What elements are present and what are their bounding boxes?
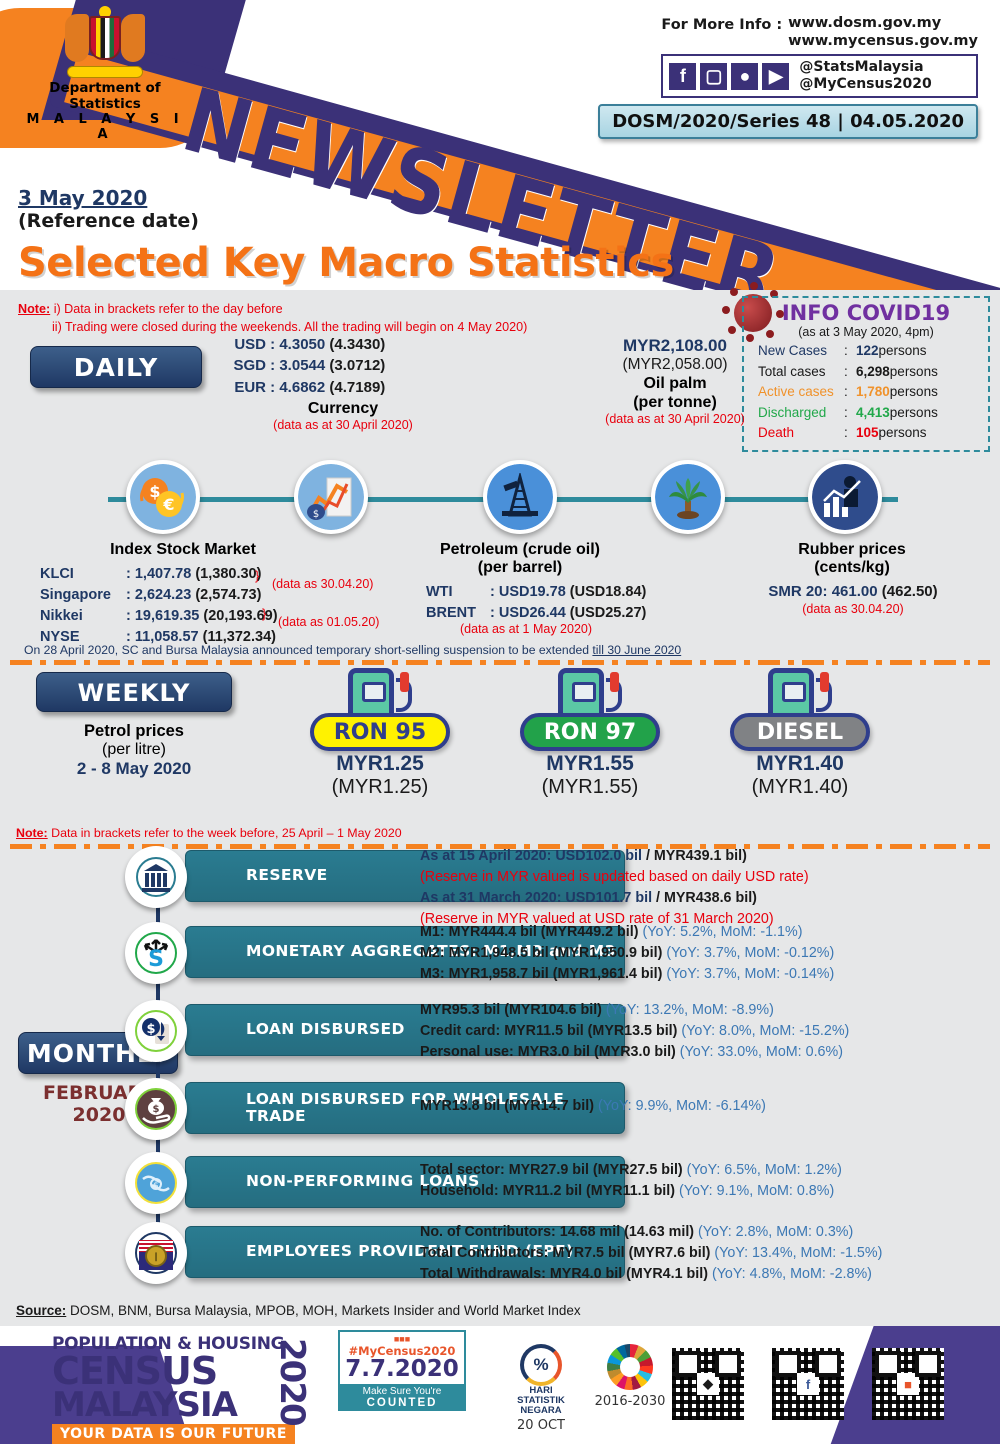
- rubber-caption-2: (cents/kg): [752, 558, 952, 577]
- social-media-box: f ▢ ● ▶ @StatsMalaysia @MyCensus2020: [661, 54, 978, 98]
- stock-market-icon: $: [294, 460, 368, 534]
- monthly-stats-segment: (14.63 mil): [620, 1224, 698, 1240]
- handle-statsmalaysia: @StatsMalaysia: [799, 59, 931, 76]
- monthly-stats-segment: /: [642, 848, 654, 864]
- index-name: Singapore: [40, 585, 126, 606]
- monthly-stats-segment: Personal use: MYR3.0 bil: [420, 1044, 590, 1060]
- index-value: 1,407.78: [135, 566, 191, 582]
- monthly-stats-segment: (YoY: 6.5%, MoM: 1.2%): [687, 1162, 842, 1178]
- fuel-price-previous: (MYR1.40): [710, 776, 890, 799]
- currency-note: (data as at 30 April 2020): [218, 418, 468, 432]
- monthly-stats-segment: (MYR1,950.9 bil): [549, 945, 667, 961]
- source-line: Source: DOSM, BNM, Bursa Malaysia, MPOB,…: [16, 1303, 581, 1318]
- monthly-stats-line: MYR13.8 bil (MYR14.7 bil) (YoY: 9.9%, Mo…: [420, 1096, 766, 1117]
- monthly-stats-line: M1: MYR444.4 bil (MYR449.2 bil) (YoY: 5.…: [420, 922, 834, 943]
- index-name: Nikkei: [40, 606, 126, 627]
- daily-section-button[interactable]: DAILY: [30, 346, 202, 388]
- monthly-stats-line: MYR95.3 bil (MYR104.6 bil) (YoY: 13.2%, …: [420, 1000, 849, 1021]
- monthly-stats-segment: (MYR13.5 bil): [584, 1023, 682, 1039]
- monthly-stats-segment: (YoY: 3.7%, MoM: -0.14%): [666, 966, 834, 982]
- currency-row: EUR : 4.6862 (4.7189): [218, 377, 468, 398]
- fuel-price-current: MYR1.40: [710, 752, 890, 776]
- currency-code: USD: [218, 334, 266, 355]
- covid-title: INFO COVID19: [744, 301, 988, 325]
- qr-code-mycensus[interactable]: ■: [872, 1348, 944, 1420]
- covid-row-unit: persons: [890, 382, 938, 403]
- monthly-stats-segment: (YoY: 13.4%, MoM: -1.5%): [714, 1245, 882, 1261]
- monthly-stats-segment: M1: MYR444.4 bil: [420, 924, 537, 940]
- index-value: 19,619.35: [135, 608, 200, 624]
- page-title: Selected Key Macro Statistics: [18, 240, 674, 286]
- series-badge: DOSM/2020/Series 48 | 04.05.2020: [598, 104, 978, 139]
- fuel-tag-ron-95: RON 95: [310, 713, 450, 751]
- loan-icon: $: [125, 1000, 187, 1062]
- covid-row-unit: persons: [890, 362, 938, 383]
- rubber-caption-1: Rubber prices: [752, 540, 952, 559]
- monthly-stats-segment: (MYR3.0 bil): [590, 1044, 680, 1060]
- index-bracket-2: }: [262, 606, 266, 621]
- monthly-stats-segment: MYR439.1 bil): [654, 848, 747, 864]
- monthly-stats-block: M1: MYR444.4 bil (MYR449.2 bil) (YoY: 5.…: [420, 922, 834, 985]
- monthly-stats-segment: Total Contributors: MYR7.5 bil: [420, 1245, 625, 1261]
- fuel-price-previous: (MYR1.55): [500, 776, 680, 799]
- monthly-stats-block: No. of Contributors: 14.68 mil (14.63 mi…: [420, 1222, 882, 1285]
- fuel-price-block: MYR1.40(MYR1.40): [710, 752, 890, 799]
- rubber-value-row: SMR 20: 461.00 (462.50): [740, 583, 966, 600]
- rubber-tapping-icon: [808, 460, 882, 534]
- fuel-price-current: MYR1.25: [290, 752, 470, 776]
- qr-center-crest-icon: ◆: [697, 1373, 719, 1395]
- weekly-caption: Petrol prices (per litre) 2 - 8 May 2020: [36, 722, 232, 779]
- source-text: DOSM, BNM, Bursa Malaysia, MPOB, MOH, Ma…: [66, 1303, 580, 1318]
- mycensus-website-link[interactable]: www.mycensus.gov.my: [788, 32, 978, 50]
- malaysia-coat-of-arms-icon: [59, 6, 151, 78]
- monthly-stats-line: As at 31 March 2020: USD101.7 bil / MYR4…: [420, 888, 809, 909]
- index-bracket-1: }: [255, 568, 259, 583]
- rubber-label: SMR 20:: [768, 583, 827, 600]
- monthly-stats-line: Household: MYR11.2 bil (MYR11.1 bil) (Yo…: [420, 1181, 842, 1202]
- monthly-stats-block: MYR95.3 bil (MYR104.6 bil) (YoY: 13.2%, …: [420, 1000, 849, 1063]
- weekly-section-button[interactable]: WEEKLY: [36, 672, 232, 712]
- facebook-icon[interactable]: f: [669, 63, 696, 90]
- rubber-note: (data as 30.04.20): [740, 602, 966, 616]
- monthly-stats-segment: / MYR438.6 bil): [652, 890, 757, 906]
- source-label: Source:: [16, 1303, 66, 1318]
- monthly-stats-segment: As at 31 March 2020: USD101.7 bil: [420, 890, 652, 906]
- monthly-stats-segment: Total sector: MYR27.9 bil: [420, 1162, 589, 1178]
- note-line-2: ii) Trading were closed during the weeke…: [52, 320, 527, 334]
- monthly-stats-line: As at 15 April 2020: USD102.0 bil / MYR4…: [420, 846, 809, 867]
- monthly-stats-segment: M2: MYR1,948.5 bil: [420, 945, 549, 961]
- covid-row-value: 6,298: [856, 362, 890, 383]
- svg-text:ا: ا: [154, 1251, 157, 1264]
- mycensus-date: 7.7.2020: [340, 1358, 464, 1381]
- monthly-stats-segment: (MYR104.6 bil): [500, 1002, 606, 1018]
- monthly-stats-segment: (YoY: 8.0%, MoM: -15.2%): [681, 1023, 849, 1039]
- census-mark-icon: ■■■: [340, 1334, 464, 1344]
- currency-value: 4.6862: [279, 379, 325, 396]
- monthly-chip-label: LOAN DISBURSED: [246, 1021, 405, 1038]
- monthly-stats-segment: (MYR449.2 bil): [537, 924, 643, 940]
- covid-row-unit: persons: [879, 423, 927, 444]
- petroleum-name: WTI: [426, 582, 490, 603]
- monthly-stats-line: M3: MYR1,958.7 bil (MYR1,961.4 bil) (YoY…: [420, 964, 834, 985]
- hsn-date: 20 OCT: [498, 1418, 584, 1433]
- currency-exchange-icon: $ €: [126, 460, 200, 534]
- hsn-line-3: NEGARA: [498, 1406, 584, 1416]
- oil-palm-caption-2: (per tonne): [560, 393, 790, 412]
- fuel-price-block: MYR1.25(MYR1.25): [290, 752, 470, 799]
- twitter-icon[interactable]: ●: [731, 63, 758, 90]
- dosm-org-country: M A L A Y S I A: [20, 112, 190, 142]
- monthly-stats-line: No. of Contributors: 14.68 mil (14.63 mi…: [420, 1222, 882, 1243]
- monthly-stats-line: (Reserve in MYR valued is updated based …: [420, 867, 809, 888]
- monthly-chip-label: RESERVE: [246, 867, 328, 884]
- sdg-logo: 2016-2030: [580, 1344, 680, 1409]
- percent-ring-icon: %: [520, 1344, 562, 1386]
- census-tagline: YOUR DATA IS OUR FUTURE: [52, 1424, 295, 1444]
- monthly-stats-segment: MYR13.8 bil: [420, 1098, 500, 1114]
- monthly-stats-line: Total sector: MYR27.9 bil (MYR27.5 bil) …: [420, 1160, 842, 1181]
- monthly-stats-segment: (MYR14.7 bil): [500, 1098, 598, 1114]
- petroleum-name: BRENT: [426, 603, 490, 624]
- petroleum-caption-1: Petroleum (crude oil): [400, 540, 640, 559]
- money-supply-icon: S: [125, 922, 187, 984]
- qr-center-census-icon: ■: [897, 1373, 919, 1395]
- mycensus-counted-text: COUNTED: [342, 1397, 462, 1409]
- currency-row: SGD : 3.0544 (3.0712): [218, 355, 468, 376]
- top-note: Note: i) Data in brackets refer to the d…: [18, 300, 527, 337]
- monthly-stats-segment: (YoY: 3.7%, MoM: -0.12%): [666, 945, 834, 961]
- svg-text:$: $: [313, 509, 319, 520]
- index-value: 2,624.23: [135, 587, 191, 603]
- covid-row-unit: persons: [879, 341, 927, 362]
- qr-code-dosm[interactable]: ◆: [672, 1348, 744, 1420]
- monthly-stats-segment: (YoY: 4.8%, MoM: -2.8%): [712, 1266, 872, 1282]
- monthly-stats-block: MYR13.8 bil (MYR14.7 bil) (YoY: 9.9%, Mo…: [420, 1096, 766, 1117]
- more-info-block: For More Info : www.dosm.gov.my www.myce…: [661, 14, 978, 98]
- short-selling-text: On 28 April 2020, SC and Bursa Malaysia …: [24, 643, 592, 657]
- monthly-stats-segment: As at 15 April 2020: USD102.0 bil: [420, 848, 642, 864]
- npl-icon: $: [125, 1152, 187, 1214]
- sdg-range: 2016-2030: [580, 1394, 680, 1409]
- oil-palm-tree-icon: [651, 460, 725, 534]
- currency-value: 4.3050: [279, 336, 325, 353]
- monthly-stats-segment: M3: MYR1,958.7 bil: [420, 966, 549, 982]
- petroleum-rows: WTI: USD19.78 (USD18.84)BRENT: USD26.44 …: [426, 582, 726, 624]
- petroleum-value: USD26.44: [499, 605, 566, 621]
- monthly-stats-segment: (Reserve in MYR valued is updated based …: [420, 869, 809, 885]
- dosm-logo: Department of Statistics M A L A Y S I A: [20, 6, 190, 116]
- covid-row-value: 105: [856, 423, 879, 444]
- fuel-tag-ron-97: RON 97: [520, 713, 660, 751]
- index-name: KLCI: [40, 564, 126, 585]
- svg-text:$: $: [153, 1181, 159, 1191]
- monthly-stats-segment: (YoY: 9.1%, MoM: 0.8%): [679, 1183, 834, 1199]
- petroleum-row: BRENT: USD26.44 (USD25.27): [426, 603, 726, 624]
- currency-caption: Currency: [218, 400, 468, 418]
- monthly-stats-segment: (MYR11.1 bil): [582, 1183, 679, 1199]
- monthly-stats-block: As at 15 April 2020: USD102.0 bil / MYR4…: [420, 846, 809, 931]
- mycensus-counted: Make Sure You're COUNTED: [340, 1384, 464, 1411]
- bank-icon: [125, 846, 187, 908]
- oil-palm-caption-1: Oil palm: [560, 374, 790, 393]
- monthly-stats-segment: (YoY: 2.8%, MoM: 0.3%): [698, 1224, 853, 1240]
- handle-mycensus2020: @MyCensus2020: [799, 76, 931, 93]
- monthly-stats-segment: Credit card: MYR11.5 bil: [420, 1023, 584, 1039]
- monthly-stats-line: M2: MYR1,948.5 bil (MYR1,950.9 bil) (YoY…: [420, 943, 834, 964]
- reference-date-block: 3 May 2020 (Reference date): [18, 186, 199, 232]
- currency-prev: (3.0712): [329, 357, 385, 374]
- covid-row-value: 4,413: [856, 403, 890, 424]
- dosm-website-link[interactable]: www.dosm.gov.my: [788, 14, 978, 32]
- weekly-caption-3: 2 - 8 May 2020: [36, 759, 232, 779]
- qr-center-facebook-icon: f: [797, 1373, 819, 1395]
- monthly-stats-segment: (MYR27.5 bil): [589, 1162, 687, 1178]
- page-header: NEWSLETTER Department of Statistics M A …: [0, 0, 1000, 290]
- currency-prev: (4.7189): [329, 379, 385, 396]
- currency-prev: (4.3430): [329, 336, 385, 353]
- index-prev: (20,193.69): [203, 608, 277, 624]
- monthly-stats-segment: MYR95.3 bil: [420, 1002, 500, 1018]
- monthly-stats-line: Personal use: MYR3.0 bil (MYR3.0 bil) (Y…: [420, 1042, 849, 1063]
- oil-palm-value: MYR2,108.00: [560, 336, 790, 356]
- monthly-stats-line: Total Withdrawals: MYR4.0 bil (MYR4.1 bi…: [420, 1264, 882, 1285]
- monthly-stats-line: Total Contributors: MYR7.5 bil (MYR7.6 b…: [420, 1243, 882, 1264]
- weekly-note-text: Data in brackets refer to the week befor…: [48, 826, 402, 840]
- monthly-stats-line: Credit card: MYR11.5 bil (MYR13.5 bil) (…: [420, 1021, 849, 1042]
- index-note-1: (data as 30.04.20): [272, 577, 373, 591]
- weekly-note: Note: Data in brackets refer to the week…: [16, 826, 402, 840]
- currency-block: USD : 4.3050 (4.3430)SGD : 3.0544 (3.071…: [218, 334, 468, 432]
- monthly-stats-block: Total sector: MYR27.9 bil (MYR27.5 bil) …: [420, 1160, 842, 1202]
- monthly-stats-segment: (MYR4.1 bil): [622, 1266, 712, 1282]
- oil-palm-prev: (MYR2,058.00): [560, 356, 790, 374]
- weekly-caption-2: (per litre): [36, 741, 232, 759]
- svg-text:$: $: [153, 1104, 160, 1115]
- petroleum-prev: (USD25.27): [570, 605, 647, 621]
- monthly-stats-segment: (MYR7.6 bil): [625, 1245, 715, 1261]
- short-selling-note: On 28 April 2020, SC and Bursa Malaysia …: [24, 643, 681, 657]
- census-logo: 2020 POPULATION & HOUSING CENSUS MALAYSI…: [52, 1334, 312, 1444]
- note-label: Note:: [18, 302, 50, 316]
- petroleum-note: (data as at 1 May 2020): [460, 622, 592, 636]
- hari-statistik-logo: % HARI STATISTIK NEGARA 20 OCT: [498, 1344, 584, 1433]
- dosm-org-name: Department of Statistics: [20, 80, 190, 112]
- epf-icon: ا: [125, 1222, 187, 1284]
- mycensus-badge: ■■■ #MyCensus2020 7.7.2020 Make Sure You…: [338, 1330, 466, 1411]
- reference-date-caption: (Reference date): [18, 210, 199, 232]
- currency-code: EUR: [218, 377, 266, 398]
- index-note-2: (data as 01.05.20): [278, 615, 379, 629]
- monthly-stats-segment: (YoY: 5.2%, MoM: -1.1%): [642, 924, 802, 940]
- monthly-stats-segment: No. of Contributors: 14.68 mil: [420, 1224, 620, 1240]
- monthly-stats-segment: (YoY: 9.9%, MoM: -6.14%): [598, 1098, 766, 1114]
- oil-palm-note: (data as at 30 April 2020): [560, 412, 790, 426]
- monthly-stats-segment: (YoY: 33.0%, MoM: 0.6%): [680, 1044, 843, 1060]
- oil-rig-icon: [483, 460, 557, 534]
- fuel-price-current: MYR1.55: [500, 752, 680, 776]
- petroleum-caption-2: (per barrel): [400, 558, 640, 577]
- monthly-stats-segment: (YoY: 13.2%, MoM: -8.9%): [606, 1002, 774, 1018]
- svg-text:€: €: [162, 495, 174, 514]
- currency-code: SGD: [218, 355, 266, 376]
- money-bag-hand-icon: $: [125, 1078, 187, 1140]
- monthly-stats-segment: Household: MYR11.2 bil: [420, 1183, 582, 1199]
- weekly-caption-1: Petrol prices: [36, 722, 232, 741]
- short-selling-link[interactable]: till 30 June 2020: [592, 643, 681, 657]
- note-line-1: i) Data in brackets refer to the day bef…: [54, 302, 283, 316]
- more-info-label: For More Info :: [661, 14, 782, 33]
- census-year: 2020: [272, 1338, 312, 1425]
- youtube-icon[interactable]: ▶: [762, 63, 789, 90]
- petroleum-prev: (USD18.84): [570, 584, 647, 600]
- rubber-value: 461.00: [832, 583, 878, 600]
- index-prev: (1,380.30): [195, 566, 261, 582]
- currency-row: USD : 4.3050 (4.3430): [218, 334, 468, 355]
- rubber-prev: (462.50): [882, 583, 938, 600]
- covid-row-unit: persons: [890, 403, 938, 424]
- reference-date: 3 May 2020: [18, 186, 199, 210]
- fuel-price-previous: (MYR1.25): [290, 776, 470, 799]
- index-prev: (2,574.73): [195, 587, 261, 603]
- sdg-wheel-icon: [607, 1344, 653, 1390]
- qr-code-facebook[interactable]: f: [772, 1348, 844, 1420]
- petroleum-row: WTI: USD19.78 (USD18.84): [426, 582, 726, 603]
- currency-value: 3.0544: [279, 357, 325, 374]
- fuel-price-block: MYR1.55(MYR1.55): [500, 752, 680, 799]
- instagram-icon[interactable]: ▢: [700, 63, 727, 90]
- fuel-tag-diesel: DIESEL: [730, 713, 870, 751]
- covid-row-value: 1,780: [856, 382, 890, 403]
- monthly-stats-segment: Total Withdrawals: MYR4.0 bil: [420, 1266, 622, 1282]
- oil-palm-block: MYR2,108.00 (MYR2,058.00) Oil palm (per …: [560, 336, 790, 426]
- divider-daily-weekly: [10, 660, 990, 665]
- svg-text:S: S: [148, 947, 164, 972]
- svg-text:$: $: [146, 1022, 155, 1037]
- mycensus-sure-text: Make Sure You're: [363, 1386, 442, 1397]
- covid-row-value: 122: [856, 341, 879, 362]
- weekly-note-label: Note:: [16, 826, 48, 840]
- monthly-stats-segment: (MYR1,961.4 bil): [549, 966, 667, 982]
- index-stock-caption: Index Stock Market: [58, 540, 308, 559]
- petroleum-value: USD19.78: [499, 584, 566, 600]
